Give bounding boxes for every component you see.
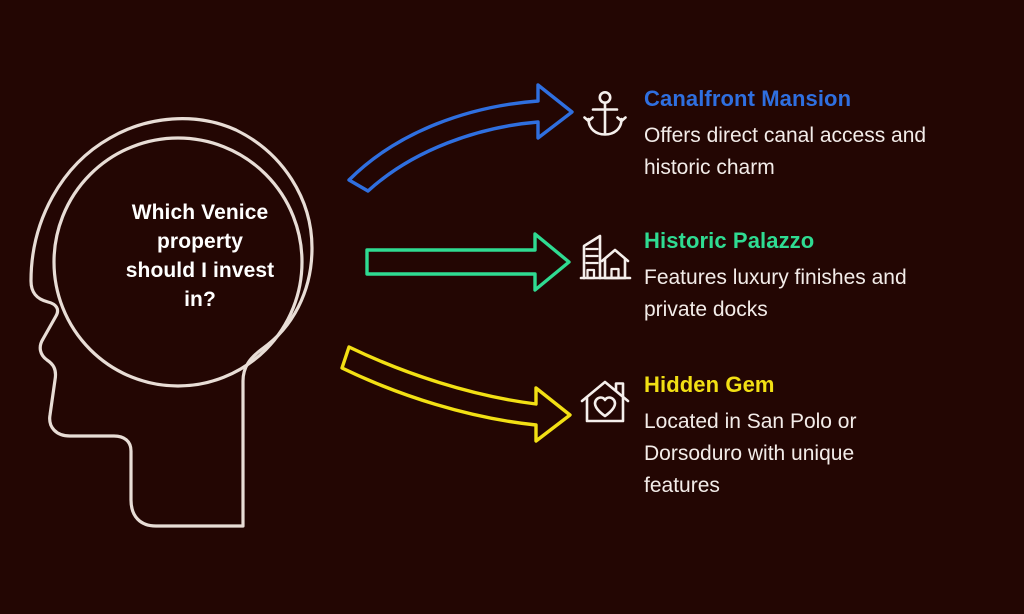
branch-historic-palazzo: Historic Palazzo Features luxury finishe… — [578, 228, 974, 326]
infographic-canvas: Which Venice property should I invest in… — [0, 0, 1024, 614]
building-house-icon — [578, 230, 632, 284]
branch-title-historic-palazzo: Historic Palazzo — [644, 228, 974, 254]
branch-description-hidden-gem: Located in San Polo or Dorsoduro with un… — [644, 406, 934, 502]
branch-canalfront-mansion: Canalfront Mansion Offers direct canal a… — [578, 86, 974, 184]
house-heart-icon — [578, 374, 632, 428]
branch-title-hidden-gem: Hidden Gem — [644, 372, 934, 398]
curved-down-arrow-yellow — [342, 347, 570, 441]
branch-title-canalfront-mansion: Canalfront Mansion — [644, 86, 974, 112]
branch-description-canalfront-mansion: Offers direct canal access and historic … — [644, 120, 974, 184]
anchor-icon — [578, 88, 632, 142]
branch-text-block: Canalfront Mansion Offers direct canal a… — [644, 86, 974, 184]
branch-hidden-gem: Hidden Gem Located in San Polo or Dorsod… — [578, 372, 934, 502]
curved-up-arrow-blue — [349, 85, 572, 191]
branch-description-historic-palazzo: Features luxury finishes and private doc… — [644, 262, 974, 326]
branch-text-block: Historic Palazzo Features luxury finishe… — [644, 228, 974, 326]
branch-text-block: Hidden Gem Located in San Polo or Dorsod… — [644, 372, 934, 502]
straight-arrow-green — [367, 234, 569, 290]
